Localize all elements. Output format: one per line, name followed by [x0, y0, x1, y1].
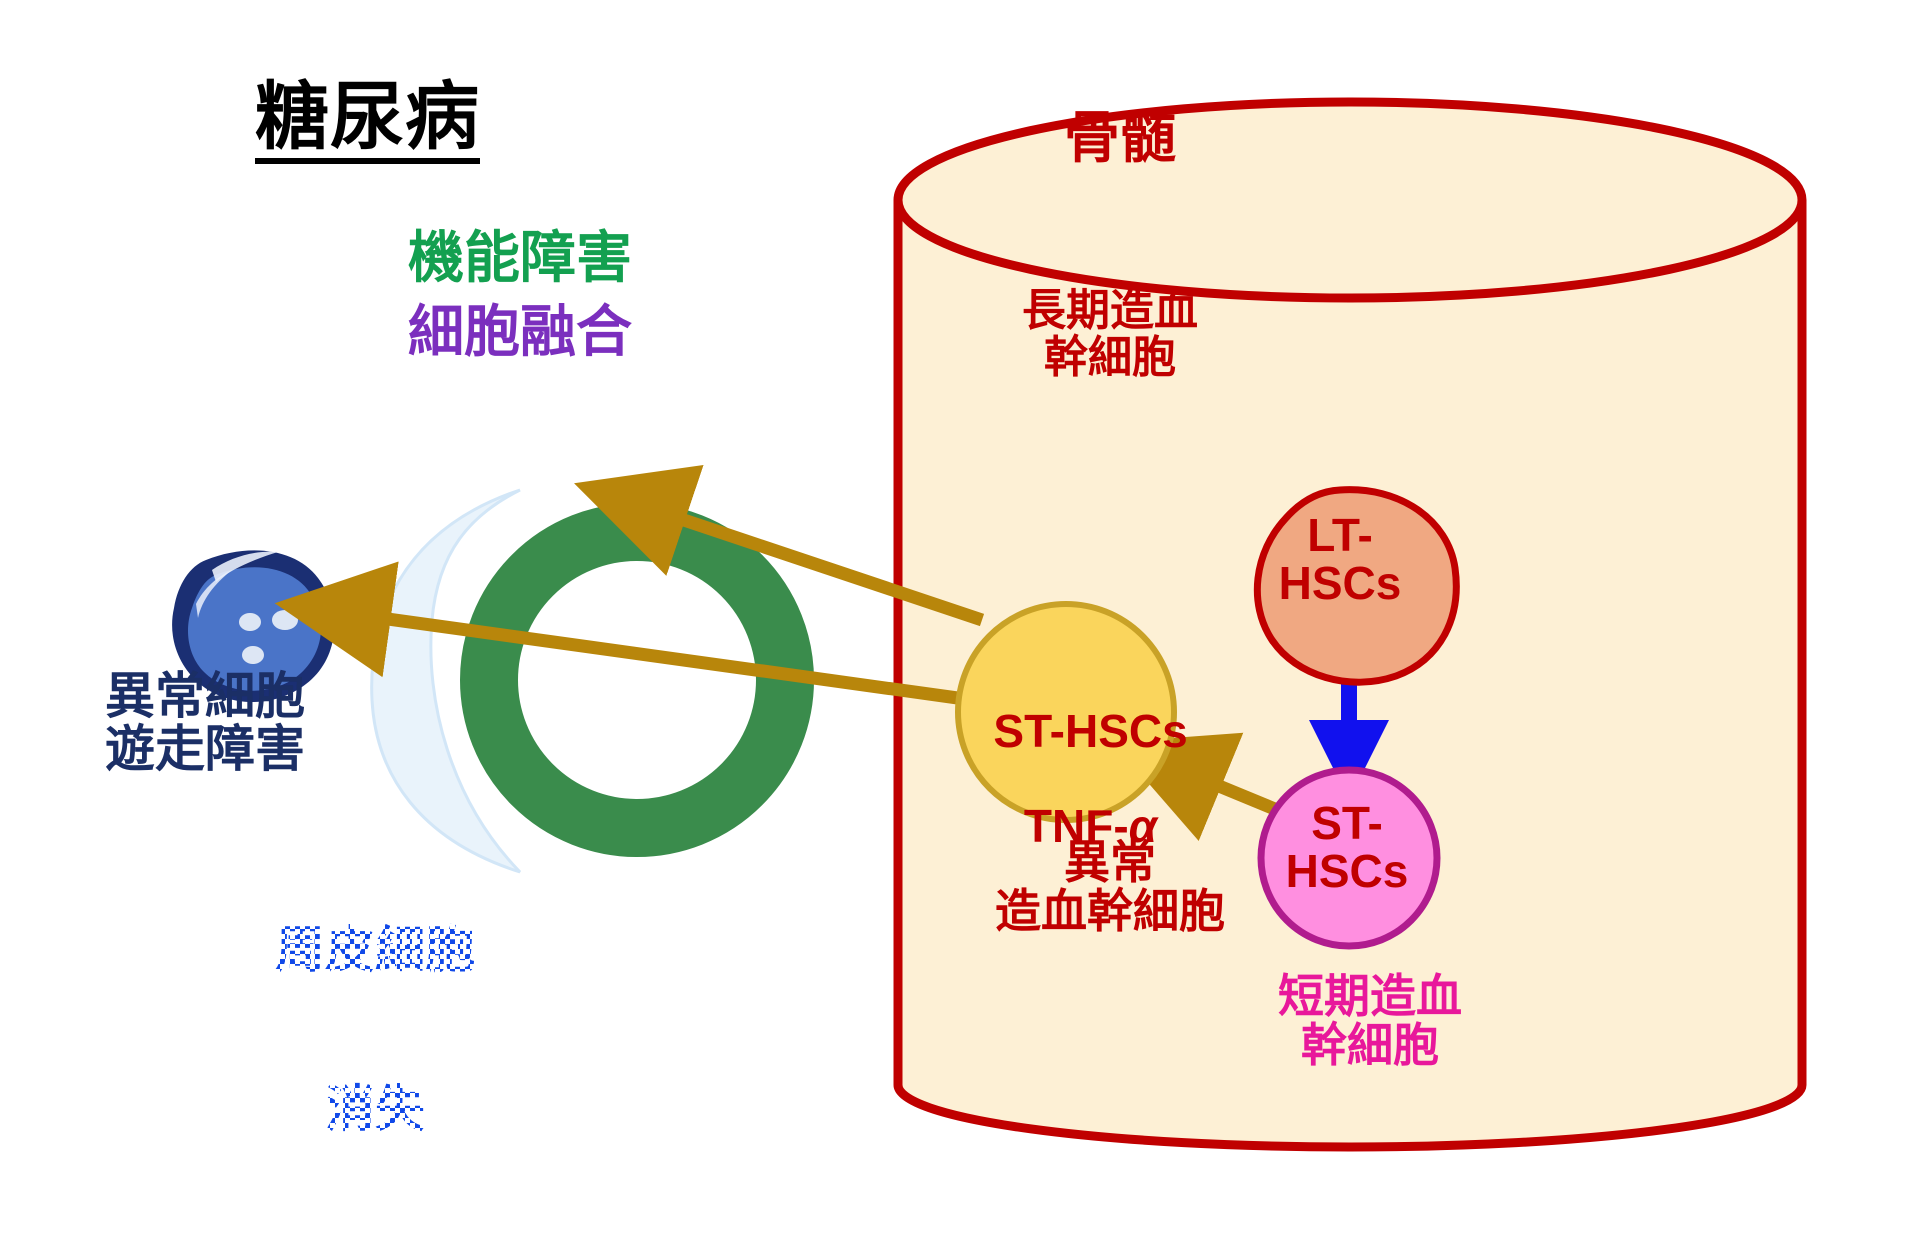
label-dysfunction: 機能障害 — [380, 228, 660, 287]
abnormal-hsc-line2-prefix: TNF- — [1024, 800, 1129, 852]
pericyte-label-line1: 周皮細胞 — [245, 924, 505, 977]
figure-canvas: 糖尿病 機能障害 細胞融合 異常細胞 遊走障害 周皮細胞 消失 骨髄 長期造血 … — [0, 0, 1920, 1244]
label-cell-fusion: 細胞融合 — [380, 302, 660, 361]
abnormal-hsc-cell-label: ST-HSCs TNF-α — [940, 660, 1190, 899]
label-pericyte-loss: 周皮細胞 消失 — [245, 818, 505, 1242]
arrow-to-leukocyte — [352, 614, 972, 700]
page-title: 糖尿病 — [255, 78, 480, 164]
lt-hsc-cell-label: LT- HSCs — [1255, 512, 1425, 608]
endothelial-ring — [489, 532, 785, 828]
st-hsc-cell-label: ST- HSCs — [1262, 800, 1432, 896]
pericyte-label-line2: 消失 — [245, 1083, 505, 1136]
label-bone-marrow: 骨髄 — [1020, 108, 1220, 167]
label-long-term-hsc: 長期造血 幹細胞 — [985, 288, 1235, 381]
abnormal-hsc-line2-greek: α — [1129, 800, 1158, 852]
pericyte-dither-overlay — [245, 1083, 505, 1136]
abnormal-hsc-line1: ST-HSCs — [993, 705, 1187, 757]
pericyte-dither-overlay — [245, 924, 505, 977]
label-short-term-hsc: 短期造血 幹細胞 — [1240, 972, 1500, 1070]
label-abnormal-cell-migration: 異常細胞 遊走障害 — [60, 670, 350, 776]
